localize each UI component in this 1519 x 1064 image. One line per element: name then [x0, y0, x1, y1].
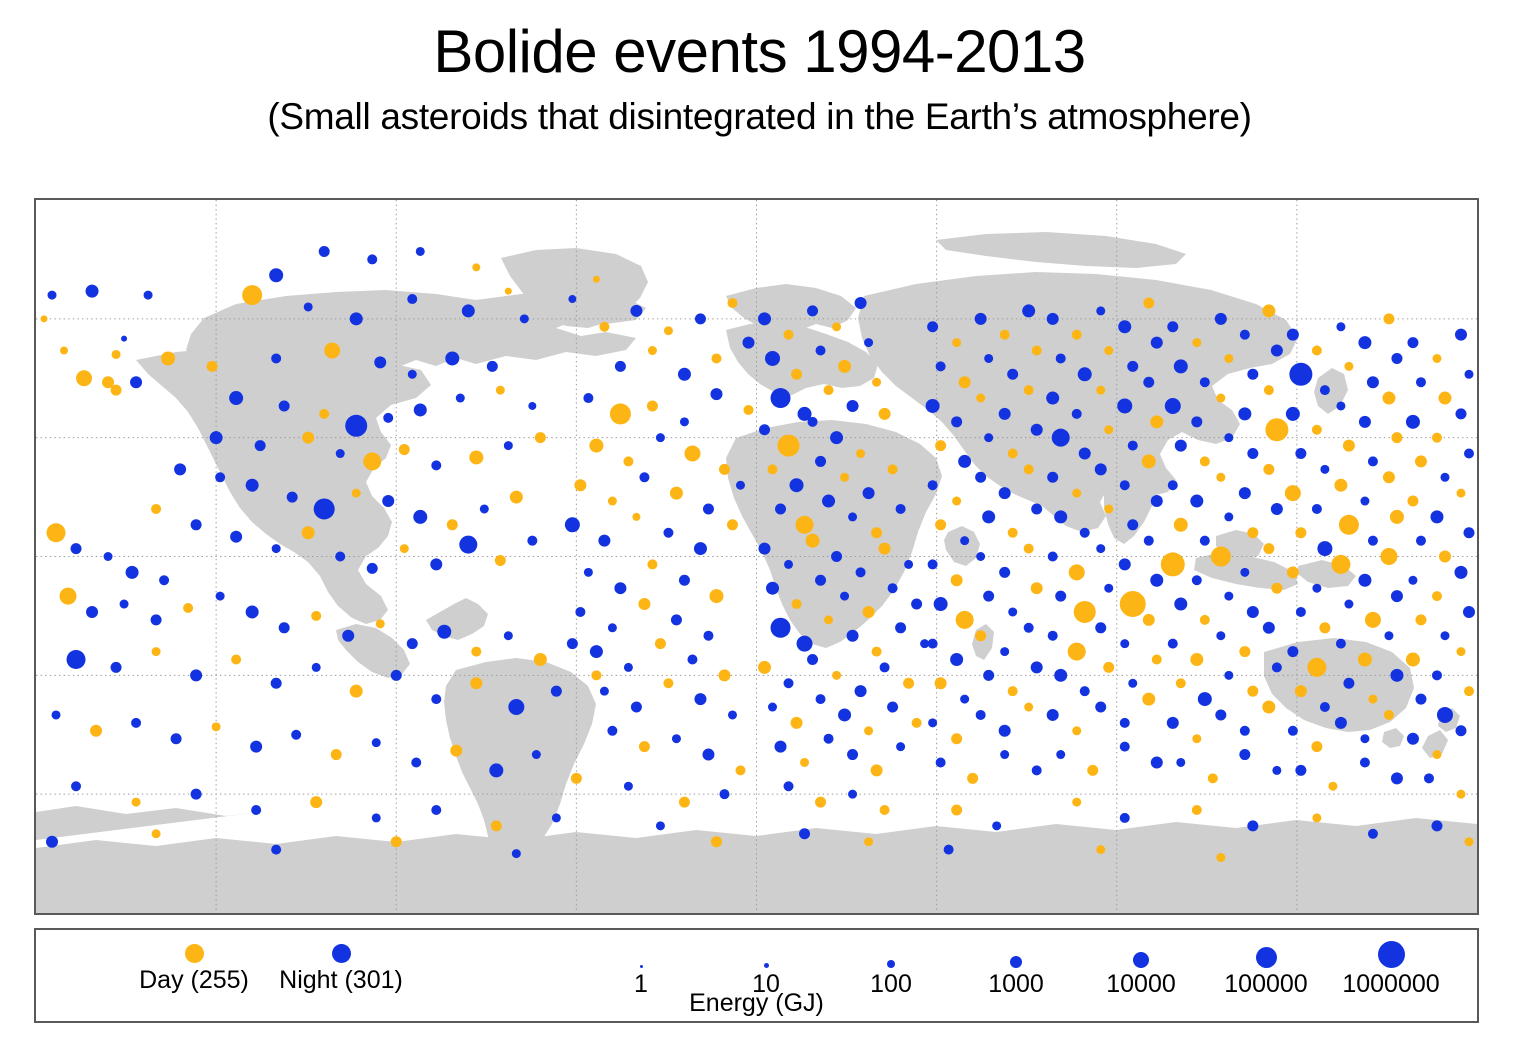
- bolide-dot-day[interactable]: [1072, 798, 1081, 807]
- bolide-dot-night[interactable]: [1052, 429, 1070, 447]
- bolide-dot-day[interactable]: [1456, 489, 1465, 498]
- bolide-dot-day[interactable]: [711, 353, 721, 363]
- bolide-dot-night[interactable]: [1167, 321, 1178, 332]
- bolide-dot-day[interactable]: [1143, 297, 1154, 308]
- bolide-dot-day[interactable]: [1432, 433, 1442, 443]
- bolide-dot-day[interactable]: [1432, 591, 1442, 601]
- bolide-dot-day[interactable]: [768, 464, 778, 474]
- bolide-dot-night[interactable]: [1096, 544, 1105, 553]
- bolide-dot-day[interactable]: [1438, 392, 1451, 405]
- bolide-dot-night[interactable]: [797, 636, 813, 652]
- bolide-dot-night[interactable]: [983, 591, 994, 602]
- bolide-dot-day[interactable]: [111, 385, 122, 396]
- bolide-dot-day[interactable]: [1307, 658, 1326, 677]
- bolide-dot-day[interactable]: [1192, 805, 1202, 815]
- bolide-dot-night[interactable]: [437, 625, 451, 639]
- bolide-dot-day[interactable]: [591, 670, 601, 680]
- bolide-dot-night[interactable]: [656, 821, 665, 830]
- bolide-dot-day[interactable]: [1142, 693, 1155, 706]
- bolide-dot-day[interactable]: [1104, 504, 1113, 513]
- bolide-dot-night[interactable]: [1358, 574, 1371, 587]
- bolide-dot-day[interactable]: [1068, 643, 1086, 661]
- bolide-dot-day[interactable]: [363, 452, 381, 470]
- bolide-dot-day[interactable]: [1176, 678, 1186, 688]
- bolide-dot-night[interactable]: [1031, 424, 1043, 436]
- bolide-dot-night[interactable]: [46, 836, 58, 848]
- bolide-dot-night[interactable]: [1104, 584, 1113, 593]
- bolide-dot-day[interactable]: [1024, 464, 1034, 474]
- bolide-dot-day[interactable]: [41, 315, 48, 322]
- bolide-dot-night[interactable]: [459, 536, 477, 554]
- bolide-dot-night[interactable]: [1224, 592, 1233, 601]
- bolide-dot-night[interactable]: [445, 351, 459, 365]
- bolide-dot-night[interactable]: [1165, 398, 1181, 414]
- bolide-dot-day[interactable]: [792, 599, 802, 609]
- bolide-dot-day[interactable]: [879, 408, 891, 420]
- bolide-dot-night[interactable]: [1120, 718, 1130, 728]
- bolide-dot-night[interactable]: [838, 708, 851, 721]
- bolide-dot-night[interactable]: [1463, 527, 1474, 538]
- bolide-dot-day[interactable]: [1365, 612, 1381, 628]
- bolide-dot-night[interactable]: [1416, 536, 1426, 546]
- bolide-dot-night[interactable]: [1288, 726, 1298, 736]
- bolide-dot-day[interactable]: [791, 717, 803, 729]
- bolide-dot-day[interactable]: [1239, 646, 1250, 657]
- bolide-dot-day[interactable]: [1390, 510, 1404, 524]
- bolide-dot-night[interactable]: [126, 566, 139, 579]
- bolide-dot-day[interactable]: [647, 559, 657, 569]
- bolide-dot-night[interactable]: [1391, 772, 1403, 784]
- bolide-dot-day[interactable]: [1432, 750, 1441, 759]
- bolide-dot-night[interactable]: [279, 622, 290, 633]
- bolide-dot-night[interactable]: [1320, 465, 1329, 474]
- bolide-dot-day[interactable]: [784, 330, 794, 340]
- bolide-dot-night[interactable]: [958, 455, 971, 468]
- bolide-dot-night[interactable]: [758, 312, 771, 325]
- bolide-dot-night[interactable]: [1464, 370, 1473, 379]
- bolide-dot-day[interactable]: [663, 678, 673, 688]
- bolide-dot-day[interactable]: [1069, 564, 1085, 580]
- bolide-dot-day[interactable]: [608, 497, 617, 506]
- bolide-dot-day[interactable]: [376, 619, 385, 628]
- bolide-dot-day[interactable]: [1383, 313, 1394, 324]
- bolide-dot-night[interactable]: [1046, 392, 1059, 405]
- bolide-dot-night[interactable]: [608, 623, 617, 632]
- bolide-dot-night[interactable]: [775, 741, 787, 753]
- bolide-dot-night[interactable]: [1096, 306, 1105, 315]
- bolide-dot-day[interactable]: [719, 464, 730, 475]
- bolide-dot-night[interactable]: [382, 495, 394, 507]
- bolide-dot-day[interactable]: [47, 523, 66, 542]
- bolide-dot-night[interactable]: [999, 567, 1010, 578]
- bolide-dot-day[interactable]: [505, 288, 512, 295]
- bolide-dot-night[interactable]: [1336, 322, 1345, 331]
- bolide-dot-night[interactable]: [1336, 401, 1345, 410]
- bolide-dot-night[interactable]: [48, 291, 57, 300]
- bolide-dot-day[interactable]: [1312, 346, 1322, 356]
- bolide-dot-day[interactable]: [1264, 385, 1274, 395]
- bolide-dot-night[interactable]: [830, 431, 843, 444]
- bolide-dot-night[interactable]: [575, 607, 585, 617]
- bolide-dot-day[interactable]: [1383, 471, 1395, 483]
- bolide-dot-day[interactable]: [1312, 813, 1321, 822]
- bolide-dot-night[interactable]: [1095, 622, 1106, 633]
- bolide-dot-night[interactable]: [848, 512, 857, 521]
- bolide-dot-night[interactable]: [86, 606, 98, 618]
- bolide-dot-night[interactable]: [976, 710, 986, 720]
- bolide-dot-day[interactable]: [778, 435, 800, 457]
- bolide-dot-day[interactable]: [60, 588, 77, 605]
- bolide-dot-day[interactable]: [718, 669, 730, 681]
- bolide-dot-night[interactable]: [1391, 590, 1403, 602]
- bolide-dot-day[interactable]: [231, 654, 241, 664]
- bolide-dot-day[interactable]: [1406, 652, 1420, 666]
- bolide-dot-day[interactable]: [242, 285, 262, 305]
- bolide-dot-day[interactable]: [1120, 591, 1146, 617]
- bolide-dot-night[interactable]: [1200, 536, 1210, 546]
- map-canvas[interactable]: [36, 200, 1477, 913]
- bolide-dot-night[interactable]: [1216, 631, 1225, 640]
- bolide-dot-night[interactable]: [255, 440, 266, 451]
- bolide-dot-day[interactable]: [1024, 703, 1033, 712]
- bolide-dot-night[interactable]: [944, 845, 954, 855]
- bolide-dot-night[interactable]: [1432, 670, 1442, 680]
- bolide-dot-night[interactable]: [630, 305, 642, 317]
- bolide-dot-day[interactable]: [510, 491, 523, 504]
- bolide-dot-night[interactable]: [1128, 441, 1138, 451]
- bolide-dot-day[interactable]: [470, 677, 482, 689]
- bolide-dot-day[interactable]: [1328, 782, 1337, 791]
- bolide-dot-night[interactable]: [1454, 566, 1467, 579]
- bolide-dot-night[interactable]: [174, 463, 186, 475]
- bolide-dot-night[interactable]: [1056, 353, 1066, 363]
- bolide-dot-night[interactable]: [1032, 765, 1042, 775]
- bolide-dot-night[interactable]: [1054, 669, 1067, 682]
- bolide-dot-day[interactable]: [1380, 548, 1397, 565]
- bolide-dot-night[interactable]: [1287, 646, 1298, 657]
- bolide-dot-night[interactable]: [671, 614, 682, 625]
- bolide-dot-day[interactable]: [450, 745, 462, 757]
- bolide-dot-day[interactable]: [1391, 432, 1402, 443]
- bolide-dot-night[interactable]: [766, 582, 779, 595]
- bolide-dot-day[interactable]: [599, 322, 609, 332]
- bolide-dot-night[interactable]: [391, 670, 402, 681]
- bolide-dot-night[interactable]: [1407, 337, 1418, 348]
- bolide-dot-day[interactable]: [60, 347, 68, 355]
- bolide-dot-night[interactable]: [1406, 415, 1420, 429]
- bolide-dot-day[interactable]: [90, 725, 102, 737]
- bolide-dot-night[interactable]: [1296, 607, 1306, 617]
- bolide-dot-day[interactable]: [1334, 479, 1347, 492]
- bolide-dot-day[interactable]: [311, 611, 321, 621]
- bolide-dot-night[interactable]: [775, 503, 786, 514]
- bolide-dot-night[interactable]: [694, 693, 706, 705]
- bolide-dot-night[interactable]: [104, 552, 113, 561]
- bolide-dot-day[interactable]: [684, 446, 700, 462]
- bolide-dot-night[interactable]: [1120, 639, 1129, 648]
- bolide-dot-day[interactable]: [1190, 653, 1203, 666]
- bolide-dot-night[interactable]: [1360, 757, 1370, 767]
- bolide-dot-day[interactable]: [796, 516, 814, 534]
- bolide-dot-night[interactable]: [719, 789, 729, 799]
- bolide-dot-night[interactable]: [1128, 679, 1137, 688]
- bolide-dot-day[interactable]: [838, 360, 851, 373]
- bolide-dot-day[interactable]: [1096, 845, 1105, 854]
- bolide-dot-day[interactable]: [951, 733, 962, 744]
- bolide-dot-night[interactable]: [999, 487, 1011, 499]
- bolide-dot-day[interactable]: [647, 400, 658, 411]
- bolide-dot-night[interactable]: [565, 517, 580, 532]
- bolide-dot-night[interactable]: [1455, 408, 1466, 419]
- bolide-dot-night[interactable]: [269, 268, 283, 282]
- bolide-dot-night[interactable]: [856, 567, 866, 577]
- bolide-dot-day[interactable]: [1247, 686, 1258, 697]
- bolide-dot-night[interactable]: [1295, 448, 1306, 459]
- bolide-dot-day[interactable]: [112, 350, 121, 359]
- bolide-dot-day[interactable]: [806, 534, 820, 548]
- bolide-dot-day[interactable]: [1103, 662, 1114, 673]
- bolide-dot-night[interactable]: [1095, 463, 1107, 475]
- bolide-dot-night[interactable]: [847, 749, 858, 760]
- bolide-dot-day[interactable]: [1382, 392, 1395, 405]
- bolide-dot-night[interactable]: [1048, 631, 1058, 641]
- bolide-dot-day[interactable]: [655, 638, 666, 649]
- bolide-dot-day[interactable]: [1415, 455, 1427, 467]
- bolide-dot-night[interactable]: [880, 662, 890, 672]
- bolide-dot-night[interactable]: [888, 583, 898, 593]
- bolide-dot-night[interactable]: [927, 321, 938, 332]
- bolide-dot-night[interactable]: [678, 368, 691, 381]
- bolide-dot-day[interactable]: [1216, 473, 1225, 482]
- bolide-dot-day[interactable]: [1200, 615, 1210, 625]
- bolide-dot-night[interactable]: [848, 790, 857, 799]
- bolide-dot-day[interactable]: [469, 450, 483, 464]
- bolide-dot-night[interactable]: [831, 551, 842, 562]
- bolide-dot-night[interactable]: [1022, 304, 1035, 317]
- bolide-dot-day[interactable]: [1008, 686, 1018, 696]
- bolide-dot-day[interactable]: [183, 603, 193, 613]
- bolide-dot-night[interactable]: [314, 498, 335, 519]
- bolide-dot-day[interactable]: [212, 722, 221, 731]
- bolide-dot-night[interactable]: [1358, 336, 1371, 349]
- bolide-dot-night[interactable]: [771, 618, 791, 638]
- bolide-dot-day[interactable]: [639, 741, 650, 752]
- bolide-dot-night[interactable]: [1167, 717, 1179, 729]
- bolide-dot-night[interactable]: [1416, 377, 1426, 387]
- bolide-dot-day[interactable]: [903, 678, 914, 689]
- bolide-dot-night[interactable]: [847, 400, 859, 412]
- bolide-dot-day[interactable]: [758, 661, 771, 674]
- bolide-dot-night[interactable]: [431, 460, 441, 470]
- bolide-dot-night[interactable]: [1120, 742, 1130, 752]
- bolide-dot-night[interactable]: [600, 687, 609, 696]
- bolide-dot-night[interactable]: [1271, 503, 1283, 515]
- bolide-dot-night[interactable]: [1200, 377, 1210, 387]
- bolide-dot-night[interactable]: [639, 472, 649, 482]
- bolide-dot-night[interactable]: [1047, 313, 1059, 325]
- bolide-dot-night[interactable]: [1368, 536, 1378, 546]
- bolide-dot-night[interactable]: [1080, 528, 1090, 538]
- bolide-dot-night[interactable]: [815, 575, 826, 586]
- bolide-dot-night[interactable]: [1078, 367, 1092, 381]
- bolide-dot-night[interactable]: [1095, 702, 1106, 713]
- bolide-dot-night[interactable]: [1174, 359, 1188, 373]
- bolide-dot-night[interactable]: [1289, 363, 1312, 386]
- bolide-dot-night[interactable]: [1151, 337, 1163, 349]
- bolide-dot-day[interactable]: [1000, 330, 1010, 340]
- bolide-dot-day[interactable]: [1072, 726, 1081, 735]
- bolide-dot-day[interactable]: [679, 797, 690, 808]
- bolide-dot-night[interactable]: [372, 738, 381, 747]
- bolide-dot-night[interactable]: [1239, 487, 1251, 499]
- bolide-dot-night[interactable]: [847, 630, 859, 642]
- bolide-dot-night[interactable]: [287, 492, 298, 503]
- bolide-dot-night[interactable]: [413, 510, 427, 524]
- bolide-dot-night[interactable]: [672, 734, 681, 743]
- bolide-dot-night[interactable]: [335, 552, 345, 562]
- bolide-dot-night[interactable]: [687, 654, 697, 664]
- bolide-dot-night[interactable]: [1168, 480, 1178, 490]
- bolide-dot-night[interactable]: [272, 544, 281, 553]
- bolide-dot-day[interactable]: [352, 489, 361, 498]
- bolide-dot-day[interactable]: [496, 386, 505, 395]
- bolide-dot-night[interactable]: [807, 305, 818, 316]
- bolide-dot-night[interactable]: [784, 678, 794, 688]
- bolide-dot-night[interactable]: [928, 559, 938, 569]
- bolide-dot-night[interactable]: [374, 356, 386, 368]
- bolide-dot-night[interactable]: [934, 597, 948, 611]
- bolide-dot-night[interactable]: [1360, 497, 1369, 506]
- bolide-dot-day[interactable]: [872, 647, 882, 657]
- bolide-dot-night[interactable]: [936, 757, 946, 767]
- bolide-dot-day[interactable]: [1456, 790, 1465, 799]
- bolide-dot-night[interactable]: [271, 353, 281, 363]
- bolide-dot-day[interactable]: [967, 773, 978, 784]
- bolide-dot-day[interactable]: [1263, 464, 1274, 475]
- bolide-dot-night[interactable]: [508, 699, 524, 715]
- bolide-dot-night[interactable]: [864, 338, 873, 347]
- bolide-dot-night[interactable]: [784, 781, 794, 791]
- bolide-dot-night[interactable]: [1437, 707, 1453, 723]
- bolide-dot-day[interactable]: [871, 764, 883, 776]
- bolide-dot-night[interactable]: [975, 313, 987, 325]
- bolide-dot-day[interactable]: [975, 630, 986, 641]
- bolide-dot-night[interactable]: [230, 531, 242, 543]
- bolide-dot-day[interactable]: [1344, 362, 1353, 371]
- bolide-dot-day[interactable]: [952, 338, 961, 347]
- bolide-dot-night[interactable]: [855, 297, 867, 309]
- bolide-dot-day[interactable]: [1224, 354, 1233, 363]
- bolide-dot-night[interactable]: [615, 361, 626, 372]
- bolide-dot-night[interactable]: [1440, 473, 1449, 482]
- bolide-dot-day[interactable]: [152, 647, 161, 656]
- bolide-dot-day[interactable]: [880, 805, 890, 815]
- bolide-dot-night[interactable]: [1239, 749, 1250, 760]
- bolide-dot-night[interactable]: [1224, 512, 1233, 521]
- bolide-dot-night[interactable]: [251, 805, 261, 815]
- bolide-dot-day[interactable]: [472, 263, 480, 271]
- bolide-dot-night[interactable]: [1335, 717, 1347, 729]
- bolide-dot-day[interactable]: [815, 797, 826, 808]
- bolide-dot-night[interactable]: [1263, 622, 1275, 634]
- bolide-dot-day[interactable]: [1285, 485, 1301, 501]
- bolide-dot-day[interactable]: [399, 444, 410, 455]
- bolide-dot-day[interactable]: [935, 440, 946, 451]
- bolide-dot-day[interactable]: [864, 837, 873, 846]
- bolide-dot-night[interactable]: [583, 393, 593, 403]
- bolide-dot-day[interactable]: [310, 796, 322, 808]
- bolide-dot-night[interactable]: [1127, 361, 1138, 372]
- bolide-dot-night[interactable]: [710, 388, 722, 400]
- bolide-dot-day[interactable]: [1150, 415, 1163, 428]
- bolide-dot-night[interactable]: [1072, 409, 1082, 419]
- bolide-dot-day[interactable]: [1174, 518, 1188, 532]
- bolide-dot-day[interactable]: [302, 526, 315, 539]
- bolide-dot-night[interactable]: [1198, 692, 1212, 706]
- bolide-dot-night[interactable]: [71, 781, 81, 791]
- bolide-dot-night[interactable]: [1080, 686, 1090, 696]
- bolide-dot-day[interactable]: [1143, 614, 1155, 626]
- bolide-dot-night[interactable]: [1240, 330, 1250, 340]
- bolide-dot-night[interactable]: [656, 433, 665, 442]
- bolide-dot-night[interactable]: [416, 247, 425, 256]
- bolide-dot-night[interactable]: [1048, 552, 1058, 562]
- bolide-dot-night[interactable]: [1056, 750, 1065, 759]
- bolide-dot-night[interactable]: [567, 638, 578, 649]
- bolide-dot-day[interactable]: [471, 647, 481, 657]
- bolide-dot-night[interactable]: [984, 354, 993, 363]
- bolide-dot-night[interactable]: [480, 504, 489, 513]
- bolide-dot-night[interactable]: [975, 472, 986, 483]
- bolide-dot-night[interactable]: [768, 703, 777, 712]
- bolide-dot-day[interactable]: [1262, 304, 1275, 317]
- bolide-dot-day[interactable]: [959, 376, 971, 388]
- bolide-dot-day[interactable]: [743, 405, 753, 415]
- bolide-dot-night[interactable]: [1430, 510, 1443, 523]
- bolide-dot-day[interactable]: [207, 361, 218, 372]
- bolide-dot-night[interactable]: [271, 678, 282, 689]
- bolide-dot-night[interactable]: [191, 789, 202, 800]
- bolide-dot-day[interactable]: [1096, 386, 1105, 395]
- bolide-dot-day[interactable]: [589, 439, 603, 453]
- bolide-dot-night[interactable]: [1247, 820, 1258, 831]
- bolide-dot-night[interactable]: [1391, 353, 1402, 364]
- bolide-dot-day[interactable]: [391, 836, 402, 847]
- bolide-dot-night[interactable]: [1247, 448, 1258, 459]
- bolide-dot-night[interactable]: [52, 710, 61, 719]
- bolide-dot-night[interactable]: [431, 805, 441, 815]
- bolide-dot-night[interactable]: [808, 417, 818, 427]
- bolide-dot-night[interactable]: [159, 575, 169, 585]
- bolide-dot-day[interactable]: [571, 773, 582, 784]
- bolide-dot-night[interactable]: [210, 431, 223, 444]
- bolide-dot-day[interactable]: [879, 543, 891, 555]
- bolide-dot-night[interactable]: [784, 560, 793, 569]
- bolide-dot-night[interactable]: [1360, 734, 1369, 743]
- bolide-dot-day[interactable]: [1265, 418, 1288, 441]
- bolide-dot-day[interactable]: [151, 504, 161, 514]
- bolide-dot-night[interactable]: [291, 730, 301, 740]
- bolide-dot-night[interactable]: [1317, 541, 1332, 556]
- bolide-dot-night[interactable]: [411, 757, 421, 767]
- bolide-dot-day[interactable]: [1152, 654, 1162, 664]
- bolide-dot-day[interactable]: [1032, 346, 1042, 356]
- bolide-dot-night[interactable]: [1408, 576, 1417, 585]
- bolide-dot-day[interactable]: [1464, 686, 1474, 696]
- bolide-dot-night[interactable]: [350, 312, 363, 325]
- bolide-dot-night[interactable]: [1008, 607, 1017, 616]
- bolide-dot-night[interactable]: [1191, 416, 1202, 427]
